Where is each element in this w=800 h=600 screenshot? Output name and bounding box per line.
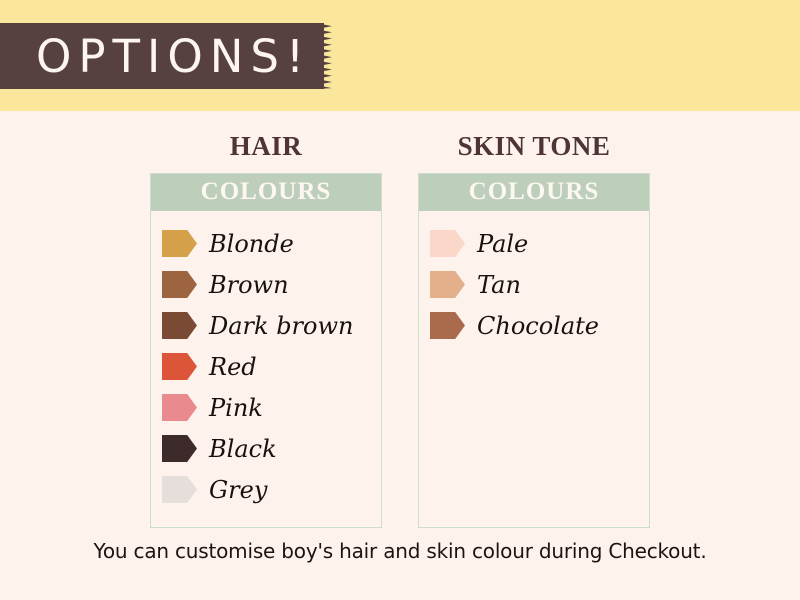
- card-body-skin-tone: Pale Tan Chocolate: [419, 211, 649, 527]
- colour-swatch-dark-brown[interactable]: [162, 312, 197, 339]
- list-item[interactable]: Black: [151, 428, 381, 469]
- list-item[interactable]: Pale: [419, 223, 649, 264]
- colour-swatch-grey[interactable]: [162, 476, 197, 503]
- list-item[interactable]: Tan: [419, 264, 649, 305]
- list-item-label: Blonde: [209, 232, 294, 256]
- list-item[interactable]: Dark brown: [151, 305, 381, 346]
- colour-swatch-red[interactable]: [162, 353, 197, 380]
- list-item[interactable]: Red: [151, 346, 381, 387]
- caption-text: You can customise boy's hair and skin co…: [0, 539, 800, 563]
- list-item-label: Chocolate: [477, 314, 599, 338]
- list-item-label: Grey: [209, 478, 267, 502]
- colour-columns: HAIR COLOURS Blonde Brown Dark brown: [0, 131, 800, 528]
- card-hair-colours: COLOURS Blonde Brown Dark brown: [150, 173, 382, 528]
- options-ribbon: OPTIONS!: [0, 23, 324, 89]
- list-item[interactable]: Brown: [151, 264, 381, 305]
- column-title-skin-tone: SKIN TONE: [418, 131, 650, 162]
- card-header-hair: COLOURS: [151, 174, 381, 211]
- column-title-hair: HAIR: [150, 131, 382, 162]
- card-header-skin-tone: COLOURS: [419, 174, 649, 211]
- list-item-label: Dark brown: [209, 314, 353, 338]
- colour-swatch-black[interactable]: [162, 435, 197, 462]
- list-item[interactable]: Blonde: [151, 223, 381, 264]
- list-item-label: Brown: [209, 273, 289, 297]
- column-skin-tone: SKIN TONE COLOURS Pale Tan Chocolate: [418, 131, 650, 528]
- list-item-label: Tan: [477, 273, 521, 297]
- list-item[interactable]: Grey: [151, 469, 381, 510]
- colour-swatch-tan[interactable]: [430, 271, 465, 298]
- card-skin-tone-colours: COLOURS Pale Tan Chocolate: [418, 173, 650, 528]
- list-item[interactable]: Pink: [151, 387, 381, 428]
- column-hair: HAIR COLOURS Blonde Brown Dark brown: [150, 131, 382, 528]
- list-item-label: Pale: [477, 232, 528, 256]
- header-band: OPTIONS!: [0, 0, 800, 111]
- colour-swatch-chocolate[interactable]: [430, 312, 465, 339]
- options-page: OPTIONS! HAIR COLOURS Blonde Brown: [0, 0, 800, 600]
- page-title: OPTIONS!: [0, 34, 311, 79]
- list-item-label: Black: [209, 437, 277, 461]
- list-item-label: Red: [209, 355, 257, 379]
- list-item-label: Pink: [209, 396, 263, 420]
- card-body-hair: Blonde Brown Dark brown Red: [151, 211, 381, 527]
- colour-swatch-brown[interactable]: [162, 271, 197, 298]
- list-item[interactable]: Chocolate: [419, 305, 649, 346]
- colour-swatch-pink[interactable]: [162, 394, 197, 421]
- colour-swatch-pale[interactable]: [430, 230, 465, 257]
- colour-swatch-blonde[interactable]: [162, 230, 197, 257]
